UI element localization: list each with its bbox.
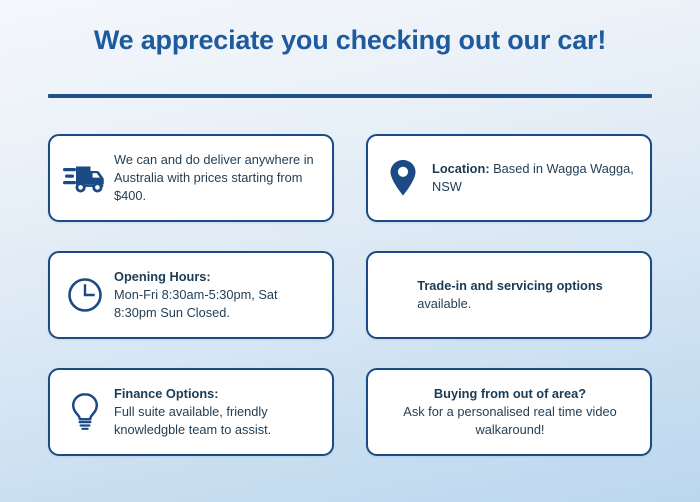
card-location-lead: Location: xyxy=(432,161,490,176)
card-trade-in-text: Trade-in and servicing options available… xyxy=(417,277,603,313)
delivery-truck-icon xyxy=(62,155,108,201)
card-delivery-body: We can and do deliver anywhere in Austra… xyxy=(114,152,314,203)
card-finance-lead: Finance Options: xyxy=(114,385,322,403)
card-trade-in-lead: Trade-in and servicing options xyxy=(417,277,603,295)
card-out-of-area-lead: Buying from out of area? xyxy=(380,385,640,403)
card-finance-text: Finance Options: Full suite available, f… xyxy=(114,385,322,439)
card-opening-hours-text: Opening Hours: Mon-Fri 8:30am-5:30pm, Sa… xyxy=(114,268,322,322)
card-finance-body: Full suite available, friendly knowledgb… xyxy=(114,403,322,439)
card-opening-hours: Opening Hours: Mon-Fri 8:30am-5:30pm, Sa… xyxy=(48,251,334,339)
card-location-text: Location: Based in Wagga Wagga, NSW xyxy=(432,160,640,196)
map-pin-icon xyxy=(380,155,426,201)
feature-card-grid: We can and do deliver anywhere in Austra… xyxy=(48,134,652,456)
card-out-of-area-text: Buying from out of area? Ask for a perso… xyxy=(380,385,640,439)
clock-icon xyxy=(62,272,108,318)
card-opening-hours-body: Mon-Fri 8:30am-5:30pm, Sat 8:30pm Sun Cl… xyxy=(114,286,322,322)
card-finance: Finance Options: Full suite available, f… xyxy=(48,368,334,456)
lightbulb-icon xyxy=(62,389,108,435)
card-out-of-area-body: Ask for a personalised real time video w… xyxy=(380,403,640,439)
card-opening-hours-lead: Opening Hours: xyxy=(114,268,322,286)
card-trade-in-body: available. xyxy=(417,295,603,313)
card-delivery-text: We can and do deliver anywhere in Austra… xyxy=(114,151,322,205)
card-location: Location: Based in Wagga Wagga, NSW xyxy=(366,134,652,222)
card-trade-in: Trade-in and servicing options available… xyxy=(366,251,652,339)
header-divider xyxy=(48,94,652,98)
card-delivery: We can and do deliver anywhere in Austra… xyxy=(48,134,334,222)
promo-panel: We appreciate you checking out our car! xyxy=(0,0,700,502)
card-out-of-area: Buying from out of area? Ask for a perso… xyxy=(366,368,652,456)
page-title: We appreciate you checking out our car! xyxy=(0,25,700,56)
